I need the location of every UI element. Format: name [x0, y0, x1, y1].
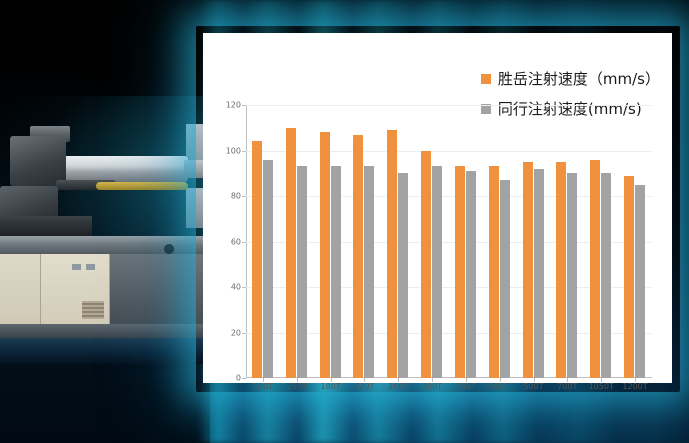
- plot-area: 020406080100120: [246, 105, 652, 378]
- bar-series2[interactable]: [263, 160, 273, 378]
- machine-barrel: [48, 156, 188, 182]
- bar-group: [550, 105, 584, 378]
- machine-vent-grille: [82, 301, 104, 319]
- x-tick-label: 700T: [550, 382, 584, 391]
- machine-slide-rail: [0, 216, 92, 238]
- bar-series2[interactable]: [500, 180, 510, 378]
- bar-groups: [246, 105, 652, 378]
- y-tick-label: 20: [231, 328, 241, 337]
- machine-bench-top: [0, 236, 212, 256]
- bar-series1[interactable]: [320, 132, 330, 378]
- x-tick-label: 150T: [280, 382, 314, 391]
- bar-series1[interactable]: [556, 162, 566, 378]
- bar-series1[interactable]: [590, 160, 600, 378]
- machine-knob: [164, 244, 174, 254]
- y-tick-mark: [242, 378, 246, 379]
- machine-button-1: [72, 264, 81, 270]
- bar-series1[interactable]: [387, 130, 397, 378]
- bar-series1[interactable]: [489, 166, 499, 378]
- bar-series1[interactable]: [455, 166, 465, 378]
- y-tick-label: 0: [236, 374, 241, 383]
- bar-series2[interactable]: [567, 173, 577, 378]
- bar-group: [314, 105, 348, 378]
- bar-series2[interactable]: [297, 166, 307, 378]
- y-tick-label: 120: [226, 101, 241, 110]
- machine-button-2: [86, 264, 95, 270]
- bar-chart: 胜岳注射速度（mm/s）同行注射速度(mm/s) 020406080100120…: [203, 33, 672, 383]
- x-tick-label: 260T: [381, 382, 415, 391]
- x-tick-label: 1050T: [584, 382, 618, 391]
- x-tick-label: 500T: [517, 382, 551, 391]
- y-tick-label: 100: [226, 146, 241, 155]
- bar-series2[interactable]: [466, 171, 476, 378]
- bar-series1[interactable]: [286, 128, 296, 378]
- machine-drive-block: [10, 136, 66, 186]
- bar-group: [618, 105, 652, 378]
- bar-series1[interactable]: [353, 135, 363, 378]
- x-tick-label: 350T: [449, 382, 483, 391]
- x-tick-label: 1200T: [618, 382, 652, 391]
- x-axis-labels: 100T150T180T220T260T300T350T420T500T700T…: [246, 382, 652, 391]
- y-tick-label: 60: [231, 237, 241, 246]
- machine-screw-rod: [96, 182, 188, 190]
- injection-molding-machine-photo: [0, 96, 212, 364]
- machine-cabinet-left: [0, 254, 41, 326]
- bar-series2[interactable]: [635, 185, 645, 378]
- bar-series1[interactable]: [523, 162, 533, 378]
- y-tick-label: 80: [231, 192, 241, 201]
- machine-floor-shadow: [0, 338, 212, 364]
- machine-base: [0, 324, 212, 338]
- bar-group: [584, 105, 618, 378]
- x-tick-label: 180T: [314, 382, 348, 391]
- bar-series2[interactable]: [534, 169, 544, 378]
- bar-group: [517, 105, 551, 378]
- x-tick-label: 420T: [483, 382, 517, 391]
- bar-series1[interactable]: [252, 141, 262, 378]
- y-tick-label: 40: [231, 283, 241, 292]
- bar-group: [280, 105, 314, 378]
- bar-group: [381, 105, 415, 378]
- chart-panel: 胜岳注射速度（mm/s）同行注射速度(mm/s) 020406080100120…: [203, 33, 672, 383]
- bar-series2[interactable]: [601, 173, 611, 378]
- bar-group: [449, 105, 483, 378]
- legend-label: 胜岳注射速度（mm/s）: [498, 68, 660, 89]
- slide-canvas: 胜岳注射速度（mm/s）同行注射速度(mm/s) 020406080100120…: [0, 0, 689, 443]
- bar-series1[interactable]: [421, 151, 431, 379]
- legend-item-0[interactable]: 胜岳注射速度（mm/s）: [481, 68, 660, 89]
- bar-group: [347, 105, 381, 378]
- x-tick-label: 100T: [246, 382, 280, 391]
- bar-group: [483, 105, 517, 378]
- machine-cover-right: [110, 254, 210, 326]
- bar-series2[interactable]: [432, 166, 442, 378]
- bar-group: [415, 105, 449, 378]
- x-tick-label: 300T: [415, 382, 449, 391]
- bar-series2[interactable]: [331, 166, 341, 378]
- bar-group: [246, 105, 280, 378]
- legend-swatch-icon: [481, 74, 491, 84]
- bar-series2[interactable]: [364, 166, 374, 378]
- bar-series1[interactable]: [624, 176, 634, 378]
- bar-series2[interactable]: [398, 173, 408, 378]
- x-tick-label: 220T: [347, 382, 381, 391]
